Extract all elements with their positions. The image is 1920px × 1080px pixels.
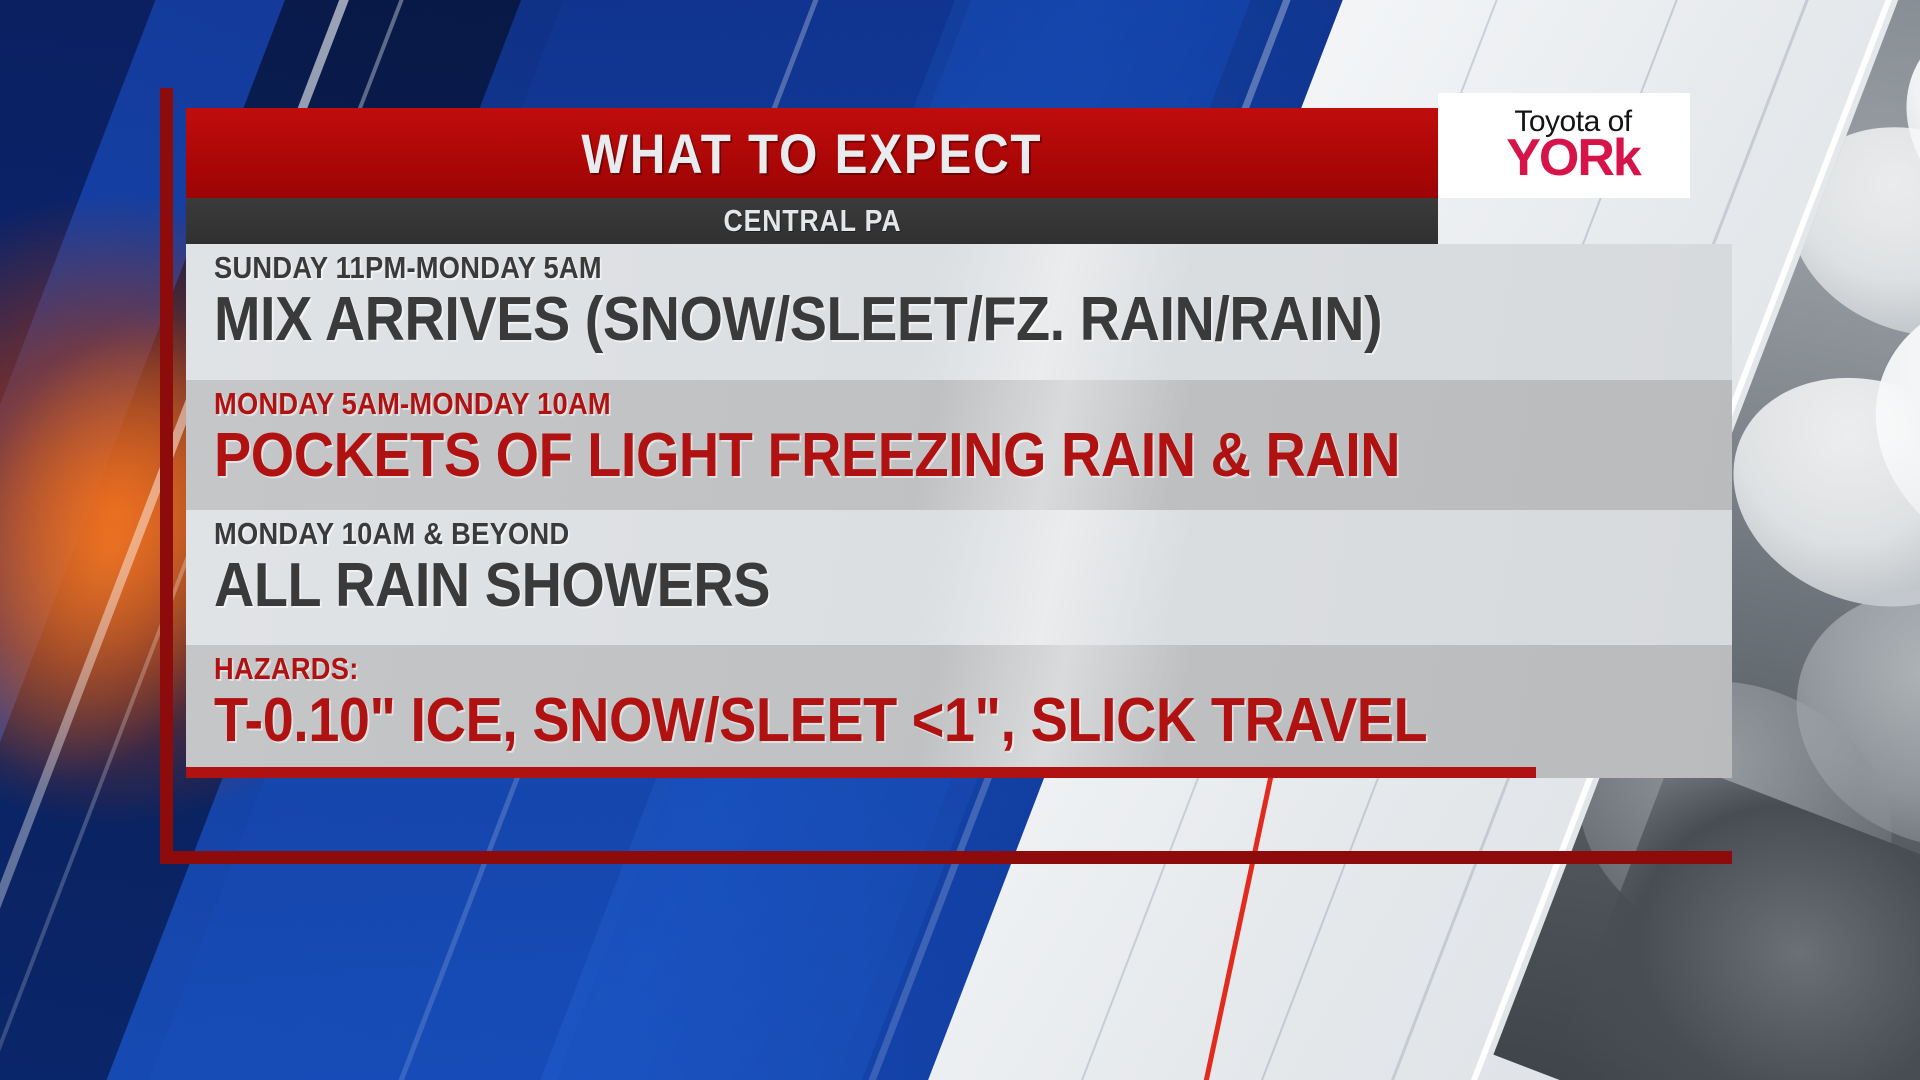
broadcast-weather-graphic: WHAT TO EXPECT Toyota of YORK CENTRAL PA… bbox=[0, 0, 1920, 1080]
forecast-row-time: MONDAY 5AM-MONDAY 10AM bbox=[214, 388, 1550, 421]
sponsor-logo-line2: YORK bbox=[1506, 134, 1640, 183]
forecast-rows: SUNDAY 11PM-MONDAY 5AM MIX ARRIVES (SNOW… bbox=[186, 244, 1732, 778]
forecast-row-time: MONDAY 10AM & BEYOND bbox=[214, 518, 1550, 551]
forecast-panel: WHAT TO EXPECT Toyota of YORK CENTRAL PA… bbox=[160, 88, 1732, 864]
subtitle-bar: CENTRAL PA bbox=[186, 198, 1438, 244]
hazards-desc: T-0.10" ICE, SNOW/SLEET <1", SLICK TRAVE… bbox=[214, 688, 1580, 753]
hazards-label: HAZARDS: bbox=[214, 653, 1550, 686]
sponsor-logo-k: K bbox=[1613, 129, 1640, 187]
hazards-underline bbox=[186, 767, 1536, 778]
forecast-row: SUNDAY 11PM-MONDAY 5AM MIX ARRIVES (SNOW… bbox=[186, 244, 1732, 380]
forecast-row-time: SUNDAY 11PM-MONDAY 5AM bbox=[214, 252, 1550, 285]
sponsor-logo-york: YOR bbox=[1506, 129, 1613, 187]
forecast-row-desc: ALL RAIN SHOWERS bbox=[214, 553, 1580, 618]
forecast-row-desc: MIX ARRIVES (SNOW/SLEET/FZ. RAIN/RAIN) bbox=[214, 287, 1580, 352]
forecast-row: MONDAY 10AM & BEYOND ALL RAIN SHOWERS bbox=[186, 510, 1732, 645]
forecast-row: MONDAY 5AM-MONDAY 10AM POCKETS OF LIGHT … bbox=[186, 380, 1732, 510]
region-label: CENTRAL PA bbox=[723, 203, 901, 239]
page-title: WHAT TO EXPECT bbox=[582, 121, 1043, 186]
sponsor-logo: Toyota of YORK bbox=[1438, 93, 1690, 198]
header-bar: WHAT TO EXPECT bbox=[186, 108, 1438, 198]
forecast-row-desc: POCKETS OF LIGHT FREEZING RAIN & RAIN bbox=[214, 423, 1580, 488]
hazards-row: HAZARDS: T-0.10" ICE, SNOW/SLEET <1", SL… bbox=[186, 645, 1732, 778]
